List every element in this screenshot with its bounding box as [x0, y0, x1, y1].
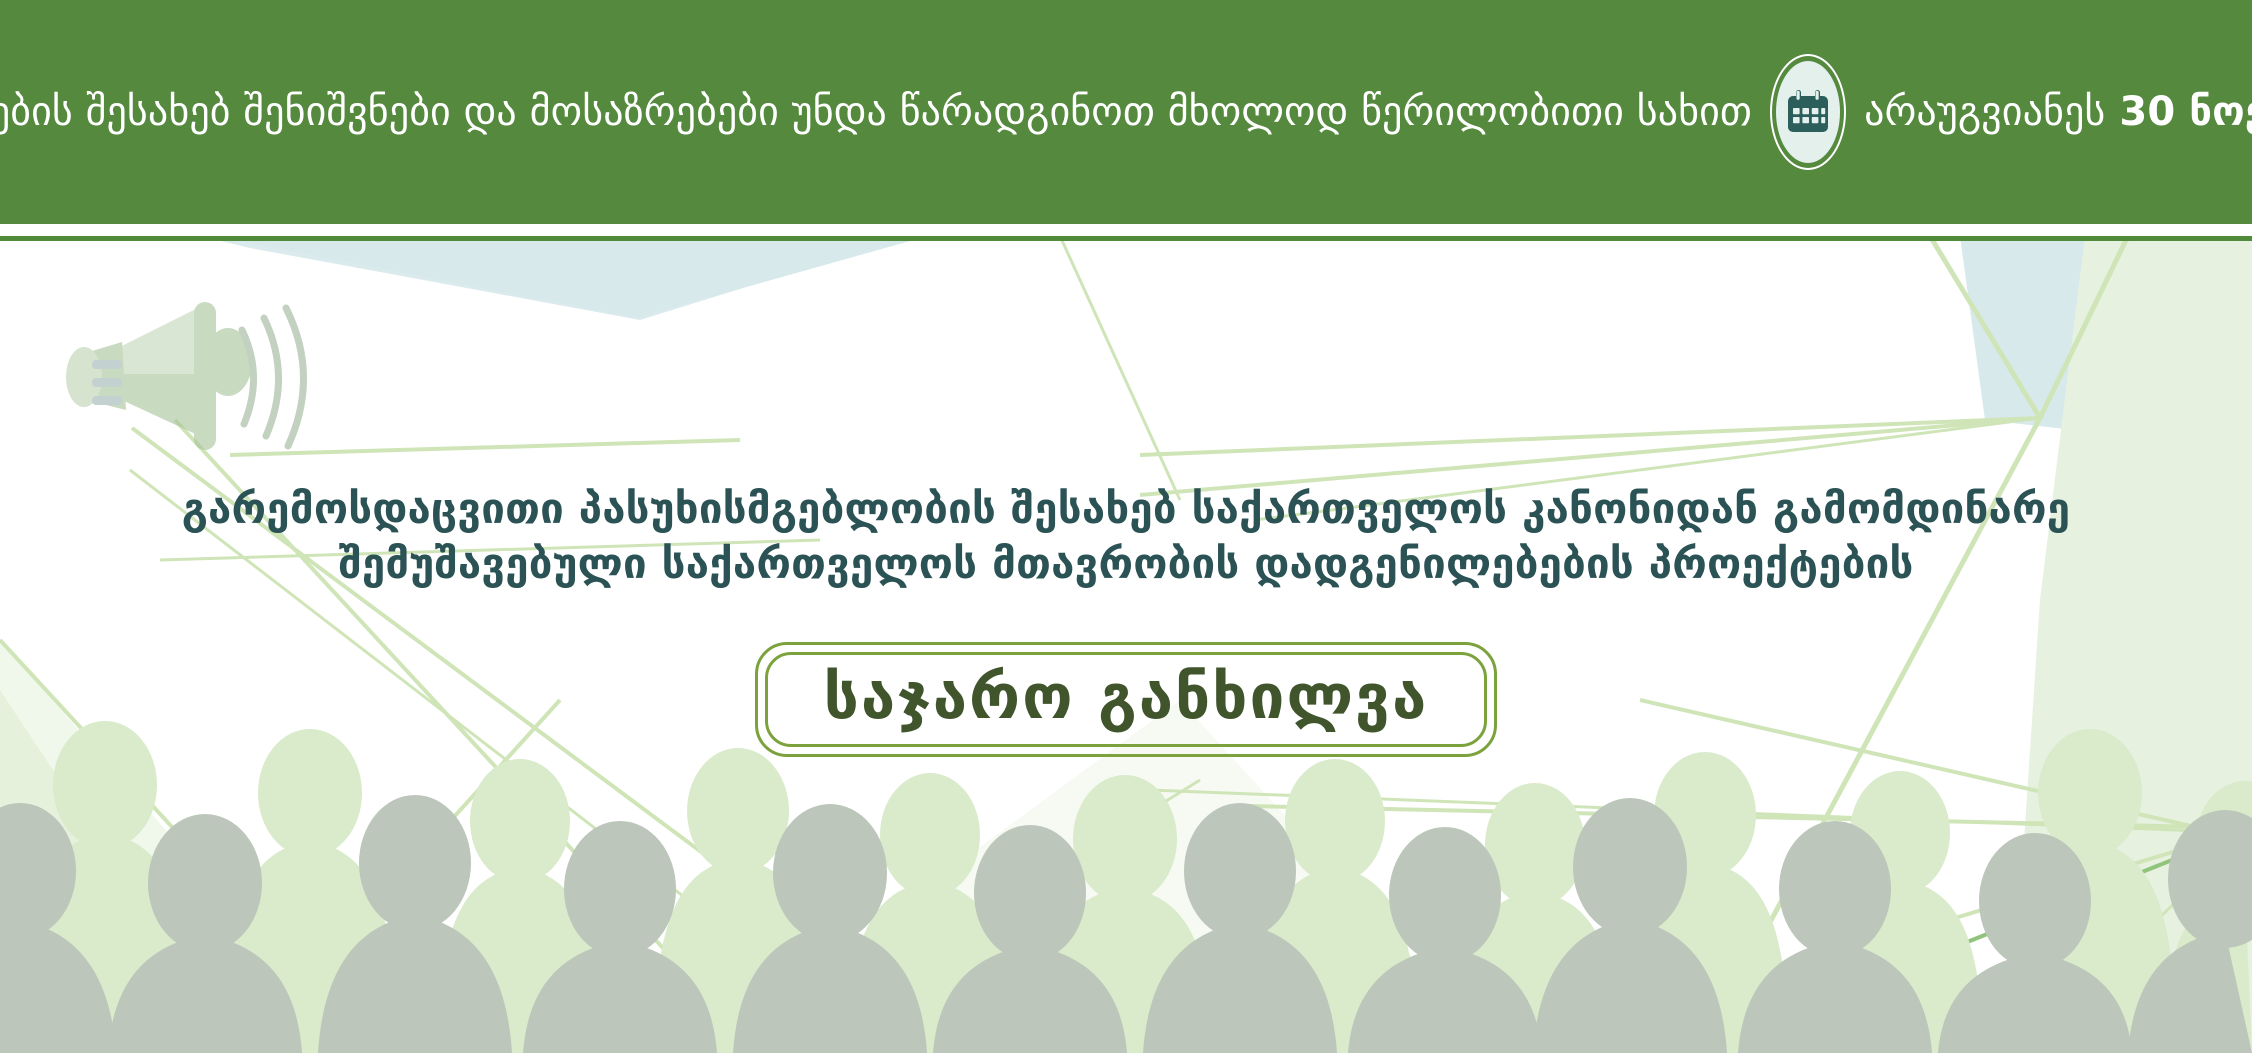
- thin-line-16: [1060, 236, 1180, 500]
- pale-blue-wedge: [215, 236, 928, 318]
- highlight-box-wrapper: საჯარო განხილვა: [0, 642, 2252, 757]
- header-underline-rule: [0, 236, 2252, 241]
- title-line-2: შემუშავებული საქართველოს მთავრობის დადგე…: [0, 537, 2252, 592]
- main-title: გარემოსდაცვითი პასუხისმგებლობის შესახებ …: [0, 482, 2252, 591]
- thin-line-1: [1140, 418, 2040, 455]
- header-text-before-icon: პროექტების შესახებ შენიშვნები და მოსაზრე…: [0, 92, 1752, 132]
- header-gap: [0, 224, 2252, 236]
- thin-line-4: [1930, 236, 2040, 418]
- megaphone-grip-ridge-3: [92, 396, 122, 405]
- title-line-1: გარემოსდაცვითი პასუხისმგებლობის შესახებ …: [0, 482, 2252, 537]
- megaphone-icon: [52, 288, 312, 468]
- header-content: პროექტების შესახებ შენიშვნები და მოსაზრე…: [0, 54, 2252, 170]
- public-consultation-banner: გარემოსდაცვითი პასუხისმგებლობის შესახებ …: [0, 0, 2252, 1053]
- pale-blue-shape-right: [1960, 236, 2120, 430]
- highlight-box-outer-border: საჯარო განხილვა: [755, 642, 1498, 757]
- calendar-icon: [1768, 54, 1848, 170]
- megaphone-grip-ridge-1: [92, 360, 122, 369]
- megaphone-cone-highlight: [114, 308, 202, 374]
- megaphone-grip-ridge-2: [92, 378, 122, 387]
- header-deadline-date: 30 ნოემბრისა: [2119, 92, 2252, 132]
- highlight-box-text: საჯარო განხილვა: [824, 664, 1429, 729]
- highlight-box-inner-border: საჯარო განხილვა: [765, 652, 1488, 747]
- header-text-after-icon: არაუგვიანეს: [1864, 92, 2105, 132]
- header-bar: პროექტების შესახებ შენიშვნები და მოსაზრე…: [0, 0, 2252, 224]
- megaphone-sound-waves: [242, 308, 304, 446]
- calendar-glyph: [1785, 89, 1831, 135]
- thin-line-5: [2040, 236, 2128, 418]
